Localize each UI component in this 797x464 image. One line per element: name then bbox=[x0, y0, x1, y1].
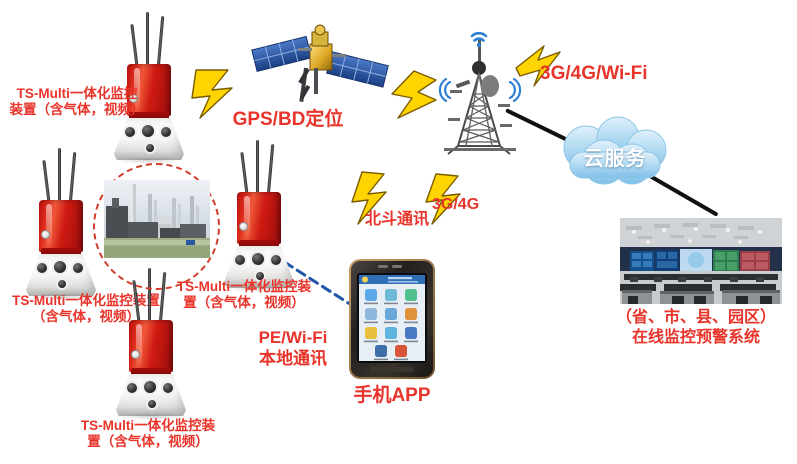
device-body bbox=[129, 320, 173, 372]
sensor-port bbox=[123, 125, 137, 139]
antenna-icon bbox=[146, 12, 149, 68]
sensor-port bbox=[142, 379, 158, 395]
satellite-icon bbox=[248, 8, 396, 112]
industrial-plant-photo bbox=[104, 180, 210, 258]
iot-architecture-diagram: TS-Multi一体化监控 装置（含气体，视频） TS-Multi一体化监控装置… bbox=[0, 0, 797, 464]
link-label-beidou: 北斗通讯 bbox=[342, 210, 452, 230]
antenna-icon bbox=[130, 24, 138, 68]
cloud-service-node: 云服务 bbox=[546, 116, 684, 190]
mobile-app-device bbox=[348, 258, 436, 380]
sensor-port bbox=[56, 278, 68, 290]
device-top-left-label: TS-Multi一体化监控 装置（含气体，视频） bbox=[2, 86, 152, 119]
sensor-port bbox=[269, 253, 283, 267]
lightning-bolt-icon bbox=[384, 70, 442, 120]
sensor-port bbox=[233, 253, 247, 267]
communication-tower-icon bbox=[428, 20, 532, 156]
device-bottom-left-label: TS-Multi一体化监控装 置（含气体，视频） bbox=[62, 418, 234, 451]
device-body bbox=[39, 200, 83, 252]
antenna-icon bbox=[42, 160, 50, 204]
link-label-local: PE/Wi-Fi 本地通讯 bbox=[232, 328, 354, 369]
antenna-icon bbox=[240, 152, 248, 196]
sensor-port bbox=[125, 381, 139, 395]
sensor-port bbox=[144, 142, 156, 154]
antenna-icon bbox=[267, 144, 275, 196]
link-label-gps: GPS/BD定位 bbox=[218, 108, 358, 131]
antenna-icon bbox=[157, 16, 165, 68]
device-indicator bbox=[41, 230, 50, 239]
mobile-app-label: 手机APP bbox=[340, 384, 444, 407]
sensor-port bbox=[159, 125, 173, 139]
device-indicator bbox=[131, 350, 140, 359]
sensor-port bbox=[35, 261, 49, 275]
device-bottom-left bbox=[112, 268, 190, 418]
link-label-3g4g-wifi: 3G/4G/Wi-Fi bbox=[540, 62, 700, 85]
sensor-port bbox=[140, 123, 156, 139]
sensor-port bbox=[250, 251, 266, 267]
cloud-service-label: 云服务 bbox=[546, 142, 684, 171]
device-mid-left bbox=[22, 148, 100, 298]
control-center-label: （省、市、县、园区） 在线监控预警系统 bbox=[596, 308, 796, 348]
sensor-port bbox=[52, 259, 68, 275]
device-indicator bbox=[239, 222, 248, 231]
device-center bbox=[220, 140, 298, 290]
sensor-port bbox=[161, 381, 175, 395]
sensor-port bbox=[71, 261, 85, 275]
device-body bbox=[237, 192, 281, 244]
antenna-icon bbox=[256, 140, 259, 196]
sensor-port bbox=[146, 398, 158, 410]
antenna-icon bbox=[58, 148, 61, 204]
control-room-photo bbox=[620, 218, 782, 304]
antenna-icon bbox=[69, 152, 77, 204]
